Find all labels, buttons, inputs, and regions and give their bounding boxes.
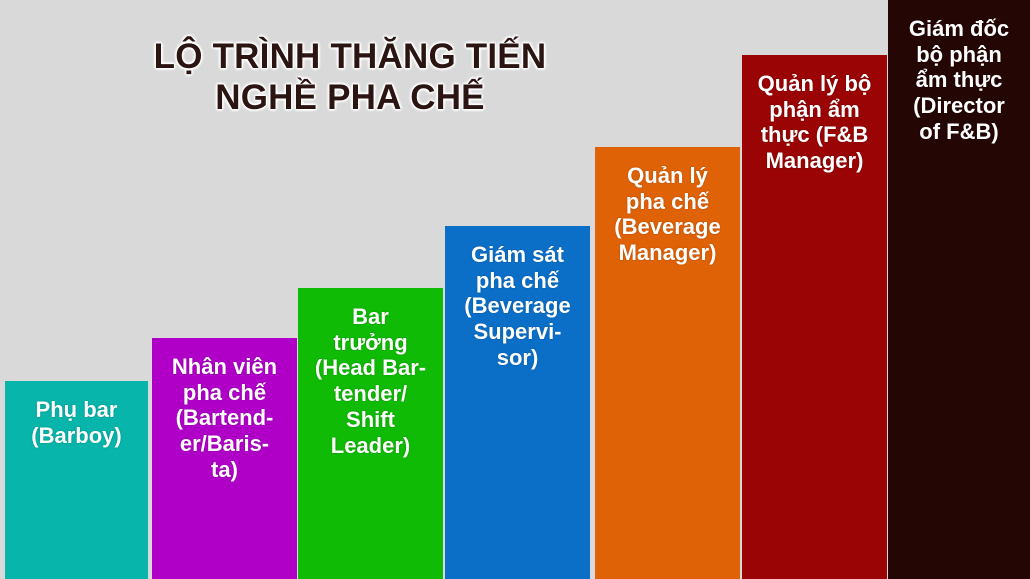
bar-step-7: Giám đốc bộ phận ẩm thực (Director of F&… bbox=[888, 0, 1030, 579]
bar-label-5: Quản lý pha chế (Beverage Manager) bbox=[595, 147, 740, 266]
bar-step-5: Quản lý pha chế (Beverage Manager) bbox=[595, 147, 740, 579]
career-ladder-chart: LỘ TRÌNH THĂNG TIẾN NGHỀ PHA CHẾ Phụ bar… bbox=[0, 0, 1030, 579]
bar-label-7: Giám đốc bộ phận ẩm thực (Director of F&… bbox=[888, 0, 1030, 145]
bar-step-3: Bar trưởng (Head Bar- tender/ Shift Lead… bbox=[298, 288, 443, 579]
page-title: LỘ TRÌNH THĂNG TIẾN NGHỀ PHA CHẾ bbox=[60, 36, 640, 119]
bar-step-2: Nhân viên pha chế (Bartend- er/Baris- ta… bbox=[152, 338, 297, 579]
bar-label-3: Bar trưởng (Head Bar- tender/ Shift Lead… bbox=[298, 288, 443, 458]
bar-label-2: Nhân viên pha chế (Bartend- er/Baris- ta… bbox=[152, 338, 297, 483]
bar-label-1: Phụ bar (Barboy) bbox=[5, 381, 148, 448]
bar-label-6: Quản lý bộ phận ẩm thực (F&B Manager) bbox=[742, 55, 887, 174]
bar-step-4: Giám sát pha chế (Beverage Supervi- sor) bbox=[445, 226, 590, 579]
bar-step-6: Quản lý bộ phận ẩm thực (F&B Manager) bbox=[742, 55, 887, 579]
bar-step-1: Phụ bar (Barboy) bbox=[5, 381, 148, 579]
bar-label-4: Giám sát pha chế (Beverage Supervi- sor) bbox=[445, 226, 590, 371]
